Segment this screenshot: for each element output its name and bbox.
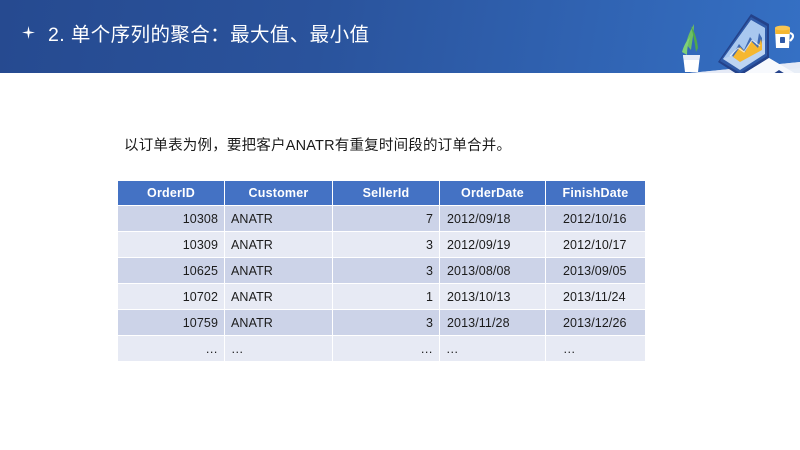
cell-sellerid: 7 — [333, 206, 439, 231]
col-header-finishdate: FinishDate — [546, 181, 645, 205]
table-row: 10759 ANATR 3 2013/11/28 2013/12/26 — [118, 310, 645, 335]
cell-sellerid: 3 — [333, 232, 439, 257]
sparkle-icon — [22, 26, 35, 39]
cell-finishdate: 2013/11/24 — [546, 284, 645, 309]
laptop-icon — [696, 14, 796, 73]
page-title: 2. 单个序列的聚合：最大值、最小值 — [48, 18, 369, 47]
cell-orderid-ellipsis: … — [118, 336, 224, 361]
col-header-customer: Customer — [225, 181, 332, 205]
cell-orderid: 10625 — [118, 258, 224, 283]
order-table: OrderID Customer SellerId OrderDate Fini… — [117, 180, 646, 362]
order-table-wrapper: OrderID Customer SellerId OrderDate Fini… — [117, 180, 640, 362]
body-paragraph: 以订单表为例，要把客户ANATR有重复时间段的订单合并。 — [124, 134, 511, 155]
cell-orderdate: 2012/09/19 — [440, 232, 545, 257]
cell-sellerid: 1 — [333, 284, 439, 309]
title-row: 2. 单个序列的聚合：最大值、最小值 — [22, 18, 369, 47]
cell-sellerid: 3 — [333, 310, 439, 335]
coffee-mug-icon — [775, 26, 793, 48]
table-row-ellipsis: … … … … … — [118, 336, 645, 361]
plant-icon — [682, 24, 700, 72]
cell-orderid: 10702 — [118, 284, 224, 309]
col-header-sellerid: SellerId — [333, 181, 439, 205]
col-header-orderdate: OrderDate — [440, 181, 545, 205]
cell-finishdate: 2013/12/26 — [546, 310, 645, 335]
cell-orderdate: 2013/10/13 — [440, 284, 545, 309]
cell-orderid: 10309 — [118, 232, 224, 257]
cell-orderdate: 2012/09/18 — [440, 206, 545, 231]
table-row: 10625 ANATR 3 2013/08/08 2013/09/05 — [118, 258, 645, 283]
cell-finishdate: 2012/10/16 — [546, 206, 645, 231]
cell-finishdate: 2012/10/17 — [546, 232, 645, 257]
cell-customer: ANATR — [225, 206, 332, 231]
cell-customer-ellipsis: … — [225, 336, 332, 361]
table-header-row: OrderID Customer SellerId OrderDate Fini… — [118, 181, 645, 205]
cell-sellerid-ellipsis: … — [333, 336, 439, 361]
cell-finishdate-ellipsis: … — [546, 336, 645, 361]
cell-orderdate: 2013/08/08 — [440, 258, 545, 283]
hero-illustration — [680, 0, 800, 73]
table-row: 10309 ANATR 3 2012/09/19 2012/10/17 — [118, 232, 645, 257]
cell-finishdate: 2013/09/05 — [546, 258, 645, 283]
cell-sellerid: 3 — [333, 258, 439, 283]
cell-customer: ANATR — [225, 232, 332, 257]
cell-orderid: 10308 — [118, 206, 224, 231]
slide-root: 2. 单个序列的聚合：最大值、最小值 — [0, 0, 800, 450]
cell-customer: ANATR — [225, 284, 332, 309]
col-header-orderid: OrderID — [118, 181, 224, 205]
cell-customer: ANATR — [225, 310, 332, 335]
chart-on-screen-icon — [732, 33, 762, 60]
table-row: 10308 ANATR 7 2012/09/18 2012/10/16 — [118, 206, 645, 231]
table-row: 10702 ANATR 1 2013/10/13 2013/11/24 — [118, 284, 645, 309]
slide-header-band: 2. 单个序列的聚合：最大值、最小值 — [0, 0, 800, 73]
cell-orderdate: 2013/11/28 — [440, 310, 545, 335]
cell-orderdate-ellipsis: … — [440, 336, 545, 361]
cell-customer: ANATR — [225, 258, 332, 283]
cell-orderid: 10759 — [118, 310, 224, 335]
